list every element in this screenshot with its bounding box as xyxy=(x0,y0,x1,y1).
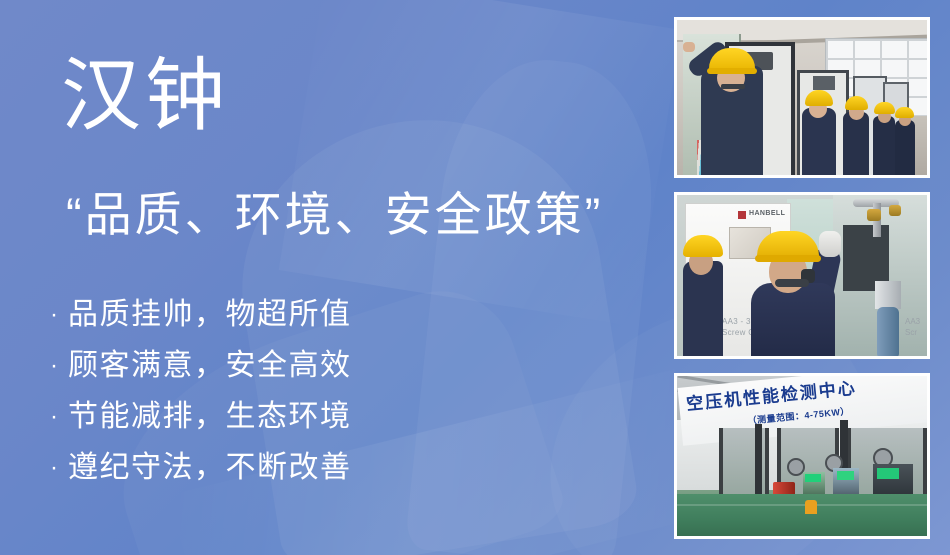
work-glove-icon xyxy=(819,231,841,257)
photo-performance-testing-centre: 空压机性能检测中心 （测量范围：4-75KW） xyxy=(674,373,930,539)
machine-display-screen xyxy=(837,471,854,480)
machine-cylinder xyxy=(877,307,899,356)
policy-bullet-list: · 品质挂帅，物超所值 · 顾客满意，安全高效 · 节能减排，生态环境 · 遵纪… xyxy=(50,292,352,496)
worker-torso xyxy=(843,112,869,175)
bullet-dot-icon: · xyxy=(50,354,68,378)
worker-torso xyxy=(751,283,835,356)
list-item: · 节能减排，生态环境 xyxy=(50,394,352,439)
worker-torso xyxy=(683,261,723,356)
hard-hat-brim xyxy=(707,68,757,74)
worker-torso xyxy=(802,108,836,175)
bullet-label: 品质挂帅，物超所值 xyxy=(68,295,352,335)
hard-hat-strap xyxy=(721,84,745,89)
photo-electrical-cabinet-assembly xyxy=(674,17,930,178)
bullet-label: 节能减排，生态环境 xyxy=(68,397,352,437)
floor-marking-line xyxy=(677,504,927,506)
list-item: · 遵纪守法，不断改善 xyxy=(50,445,352,490)
cabinet-panel xyxy=(813,76,835,90)
list-item: · 品质挂帅，物超所值 xyxy=(50,292,352,337)
photo-column: HANBELL AA3 - 37A Screw Compres. AA3 Scr xyxy=(674,17,930,539)
brand-title: 汉钟 xyxy=(61,48,229,144)
machine-display-screen xyxy=(877,468,899,479)
promo-slide: 汉钟 “品质、环境、安全政策” · 品质挂帅，物超所值 · 顾客满意，安全高效 … xyxy=(0,0,950,555)
safety-bollard xyxy=(805,500,817,514)
machine-cylinder xyxy=(875,281,901,309)
hard-hat-icon xyxy=(874,102,895,114)
bullet-dot-icon: · xyxy=(50,303,68,327)
worker-torso xyxy=(895,120,915,175)
list-item: · 顾客满意，安全高效 xyxy=(50,343,352,388)
bullet-dot-icon: · xyxy=(50,405,68,429)
machine-display-screen xyxy=(805,474,821,482)
machine-type-label-right: Scr xyxy=(905,328,917,337)
text-column: 汉钟 “品质、环境、安全政策” · 品质挂帅，物超所值 · 顾客满意，安全高效 … xyxy=(0,0,660,555)
bullet-label: 遵纪守法，不断改善 xyxy=(68,448,352,488)
machine-model-label-right: AA3 xyxy=(905,317,920,326)
hanbell-brand-label: HANBELL xyxy=(749,210,785,217)
hard-hat-strap xyxy=(775,279,809,287)
hard-hat-brim xyxy=(755,255,821,262)
worker-torso xyxy=(873,116,895,175)
bullet-dot-icon: · xyxy=(50,456,68,480)
worker-hand xyxy=(683,42,695,52)
brass-valve xyxy=(867,209,881,221)
hanbell-logo-icon xyxy=(738,211,746,219)
policy-quote: “品质、环境、安全政策” xyxy=(66,185,603,245)
epoxy-floor xyxy=(677,494,927,536)
brass-valve xyxy=(889,205,901,216)
hard-hat-icon xyxy=(895,107,914,118)
bullet-label: 顾客满意，安全高效 xyxy=(68,346,352,386)
photo-screw-compressor-assembly: HANBELL AA3 - 37A Screw Compres. AA3 Scr xyxy=(674,192,930,359)
